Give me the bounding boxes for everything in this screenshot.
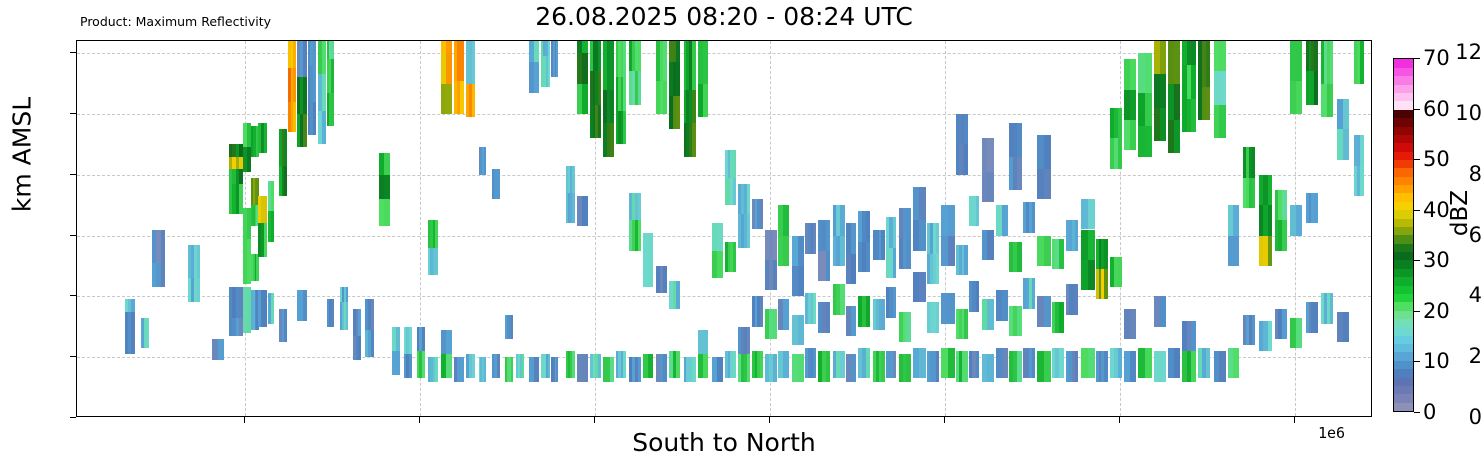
reflectivity-cell [826, 302, 830, 332]
reflectivity-cell [1059, 348, 1063, 378]
colorbar-segment [1394, 159, 1413, 168]
reflectivity-cell [1191, 99, 1196, 132]
reflectivity-cell [1296, 318, 1302, 348]
reflectivity-cell [548, 354, 551, 378]
colorbar-segment [1394, 201, 1413, 210]
reflectivity-cell [1174, 348, 1180, 378]
colorbar-segment [1394, 352, 1413, 361]
colorbar-segment [1394, 293, 1413, 302]
reflectivity-cell [1118, 138, 1122, 168]
reflectivity-cell [1130, 59, 1136, 89]
reflectivity-cell [906, 239, 910, 269]
reflectivity-cell [1268, 321, 1273, 351]
reflectivity-cell [271, 211, 275, 241]
reflectivity-cell [1160, 351, 1166, 381]
reflectivity-cell [1206, 87, 1210, 120]
reflectivity-cell [663, 266, 667, 293]
reflectivity-cell [303, 77, 306, 113]
reflectivity-cell [703, 84, 709, 117]
reflectivity-cell [906, 354, 910, 381]
reflectivity-cell [813, 293, 816, 323]
reflectivity-cell [1130, 120, 1136, 150]
reflectivity-cell [1343, 99, 1349, 129]
reflectivity-cell [1017, 123, 1022, 156]
colorbar-segment [1394, 101, 1413, 110]
reflectivity-cell [197, 278, 200, 302]
colorbar-tick-label: 60 [1423, 97, 1450, 121]
reflectivity-cell [1075, 351, 1078, 381]
reflectivity-cell [556, 41, 558, 77]
reflectivity-cell [1233, 348, 1239, 378]
reflectivity-cell [919, 220, 926, 250]
reflectivity-cell [1017, 242, 1022, 272]
reflectivity-cell [919, 187, 926, 220]
reflectivity-cell [331, 59, 334, 92]
reflectivity-cell [1191, 321, 1196, 351]
reflectivity-cell [747, 184, 750, 214]
reflectivity-cell [717, 251, 723, 278]
colorbar-segment [1394, 168, 1413, 177]
reflectivity-cell [197, 245, 200, 278]
colorbar-segment [1394, 84, 1413, 93]
reflectivity-cell [534, 62, 539, 92]
reflectivity-cell [676, 281, 680, 308]
reflectivity-cell [676, 62, 680, 95]
reflectivity-cell [906, 312, 910, 342]
reflectivity-cell [1145, 348, 1152, 378]
reflectivity-cell [733, 242, 736, 272]
reflectivity-cell [472, 84, 475, 117]
colorbar-tick [1414, 210, 1420, 211]
reflectivity-cell [1296, 41, 1302, 81]
reflectivity-cell [1252, 315, 1255, 345]
reflectivity-cell [798, 236, 804, 266]
plot-area [76, 40, 1372, 417]
x-axis-label: South to North [76, 428, 1372, 457]
reflectivity-cell [435, 220, 438, 247]
colorbar-tick-label: 70 [1423, 46, 1450, 70]
reflectivity-cell [548, 41, 551, 56]
colorbar-tick [1414, 58, 1420, 59]
colorbar-segment [1394, 235, 1413, 244]
reflectivity-cell [648, 260, 653, 287]
reflectivity-cell [1044, 296, 1051, 326]
y-axis-tick [70, 235, 76, 236]
reflectivity-cell [1191, 351, 1196, 381]
colorbar-segment [1394, 285, 1413, 294]
colorbar-segment [1394, 343, 1413, 352]
colorbar-segment [1394, 369, 1413, 378]
reflectivity-cell [610, 123, 614, 156]
colorbar-segment [1394, 327, 1413, 336]
reflectivity-cell [384, 153, 390, 174]
reflectivity-cell [813, 348, 816, 378]
reflectivity-cell [582, 53, 588, 83]
reflectivity-cell [1343, 129, 1349, 159]
reflectivity-cell [1044, 236, 1051, 266]
reflectivity-cell [1219, 105, 1225, 138]
reflectivity-cell [1044, 169, 1051, 199]
reflectivity-cell [313, 65, 316, 101]
reflectivity-cell [1032, 202, 1035, 232]
reflectivity-cell [783, 236, 789, 266]
x-axis-tick [1294, 417, 1295, 423]
reflectivity-cell [1268, 205, 1273, 235]
reflectivity-cell [623, 111, 626, 144]
reflectivity-cell [840, 284, 844, 314]
colorbar-segment [1394, 268, 1413, 277]
reflectivity-cell [598, 354, 601, 378]
reflectivity-cell [866, 211, 870, 241]
reflectivity-cell [497, 354, 500, 378]
reflectivity-cell [1118, 348, 1122, 378]
reflectivity-cell [717, 223, 723, 250]
reflectivity-cell [572, 166, 575, 193]
reflectivity-cell [760, 199, 763, 229]
reflectivity-cell [484, 357, 486, 381]
reflectivity-cell [893, 248, 897, 278]
colorbar-segment [1394, 134, 1413, 143]
reflectivity-cell [435, 248, 438, 275]
reflectivity-cell [893, 287, 897, 317]
reflectivity-cell [826, 251, 830, 281]
reflectivity-cell [676, 351, 680, 378]
reflectivity-cell [313, 102, 316, 135]
reflectivity-cell [271, 293, 275, 323]
colorbar-segment [1394, 92, 1413, 101]
reflectivity-cell [1017, 351, 1022, 381]
reflectivity-cell [511, 315, 513, 339]
reflectivity-cell [987, 230, 993, 260]
colorbar-tick-label: 10 [1423, 349, 1450, 373]
x-axis-tick [594, 417, 595, 423]
reflectivity-cell [1118, 257, 1122, 287]
colorbar-tick [1414, 260, 1420, 261]
reflectivity-cell [866, 242, 870, 272]
colorbar-segment [1394, 385, 1413, 394]
reflectivity-cell [936, 254, 939, 284]
reflectivity-cell [733, 178, 736, 205]
reflectivity-cell [371, 330, 374, 357]
reflectivity-cell [1282, 220, 1286, 250]
colorbar-segment [1394, 218, 1413, 227]
reflectivity-cell [623, 41, 626, 77]
reflectivity-cell [1017, 306, 1022, 336]
colorbar-tick [1414, 361, 1420, 362]
colorbar-segment [1394, 185, 1413, 194]
reflectivity-cell [936, 223, 939, 253]
reflectivity-cell [293, 102, 296, 132]
reflectivity-cell [663, 81, 667, 114]
x-axis-tick [944, 417, 945, 423]
reflectivity-cell [747, 354, 750, 381]
colorbar [1393, 58, 1414, 412]
reflectivity-cell [358, 336, 361, 360]
y-axis-tick [70, 356, 76, 357]
colorbar-segment [1394, 335, 1413, 344]
reflectivity-cell [676, 96, 680, 129]
reflectivity-cell [964, 309, 967, 339]
colorbar-segment [1394, 377, 1413, 386]
reflectivity-cell [1174, 84, 1180, 120]
reflectivity-cell [396, 327, 400, 351]
reflectivity-cell [264, 290, 267, 326]
product-label: Product: Maximum Reflectivity [80, 14, 271, 29]
reflectivity-cell [773, 260, 777, 290]
reflectivity-cell [1088, 348, 1095, 378]
colorbar-label: dBZ [1447, 133, 1473, 293]
reflectivity-cell [936, 351, 939, 381]
colorbar-segment [1394, 318, 1413, 327]
colorbar-segment [1394, 251, 1413, 260]
reflectivity-cell [293, 41, 296, 68]
reflectivity-cell [161, 263, 166, 287]
colorbar-segment [1394, 243, 1413, 252]
reflectivity-cell [293, 68, 296, 101]
reflectivity-cell [146, 318, 148, 348]
reflectivity-cell [1130, 309, 1136, 339]
reflectivity-cell [582, 354, 588, 381]
colorbar-segment [1394, 126, 1413, 135]
reflectivity-cell [460, 41, 463, 81]
reflectivity-cell [948, 205, 955, 235]
reflectivity-cell [1206, 41, 1210, 87]
reflectivity-cell [798, 354, 804, 381]
reflectivity-cell [1314, 41, 1317, 71]
reflectivity-cell [472, 354, 475, 378]
reflectivity-cell [384, 199, 390, 226]
reflectivity-cell [396, 351, 400, 375]
colorbar-tick-label: 40 [1423, 198, 1450, 222]
reflectivity-cell [610, 41, 614, 90]
reflectivity-cell [692, 123, 695, 156]
reflectivity-cell [572, 351, 575, 378]
reflectivity-cell [783, 205, 789, 235]
reflectivity-cell [1219, 71, 1225, 104]
x-axis-tick [244, 417, 245, 423]
reflectivity-cell [1032, 348, 1035, 378]
colorbar-tick [1414, 159, 1420, 160]
reflectivity-cell [409, 354, 411, 378]
colorbar-segment [1394, 193, 1413, 202]
reflectivity-cell [1160, 296, 1166, 326]
reflectivity-cell [497, 169, 500, 199]
reflectivity-cell [1330, 293, 1333, 323]
reflectivity-cell [1252, 147, 1255, 177]
reflectivity-cell [1296, 81, 1302, 114]
colorbar-segment [1394, 118, 1413, 127]
colorbar-segment [1394, 260, 1413, 269]
reflectivity-cell [1002, 348, 1008, 378]
reflectivity-cell [446, 41, 452, 53]
reflectivity-cell [582, 196, 588, 226]
reflectivity-cell [1088, 230, 1095, 260]
reflectivity-cell [271, 181, 275, 211]
gridline-horizontal [77, 175, 1371, 176]
x-axis-offset-label: 1e6 [1318, 424, 1345, 442]
reflectivity-cell [881, 299, 884, 329]
reflectivity-cell [284, 166, 287, 196]
reflectivity-cell [446, 84, 452, 114]
reflectivity-cell [638, 71, 641, 104]
reflectivity-cell [1160, 41, 1166, 74]
reflectivity-cell [331, 41, 334, 59]
reflectivity-cell [556, 357, 558, 381]
colorbar-segment [1394, 310, 1413, 319]
colorbar-tick-label: 20 [1423, 299, 1450, 323]
colorbar-segment [1394, 277, 1413, 286]
reflectivity-cell [511, 357, 513, 381]
reflectivity-cell [851, 354, 857, 381]
reflectivity-cell [747, 214, 750, 247]
reflectivity-cell [1130, 90, 1136, 120]
reflectivity-cell [813, 223, 816, 253]
y-axis-tick [70, 417, 76, 418]
y-axis-tick [70, 174, 76, 175]
reflectivity-cell [906, 208, 910, 238]
reflectivity-cell [472, 41, 475, 84]
reflectivity-cell [1343, 312, 1349, 342]
reflectivity-cell [638, 41, 641, 71]
reflectivity-cell [256, 254, 258, 281]
reflectivity-cell [964, 351, 967, 381]
reflectivity-cell [773, 354, 777, 381]
reflectivity-cell [264, 223, 267, 256]
reflectivity-cell [866, 296, 870, 326]
reflectivity-cell [851, 223, 857, 253]
reflectivity-cell [446, 330, 452, 354]
reflectivity-cell [460, 81, 463, 114]
colorbar-segment [1394, 302, 1413, 311]
reflectivity-cell [358, 309, 361, 336]
reflectivity-cell [346, 287, 348, 302]
reflectivity-cell [692, 90, 695, 123]
reflectivity-cell [851, 254, 857, 284]
reflectivity-cell [346, 302, 348, 329]
reflectivity-cell [1314, 302, 1317, 332]
reflectivity-cell [623, 351, 626, 378]
colorbar-tick-label: 0 [1423, 400, 1436, 424]
reflectivity-cell [1017, 157, 1022, 190]
reflectivity-cell [1206, 348, 1210, 378]
reflectivity-cell [331, 93, 334, 126]
reflectivity-cell [692, 41, 695, 90]
reflectivity-cell [322, 41, 326, 74]
reflectivity-cell [1059, 239, 1063, 269]
colorbar-tick-label: 30 [1423, 248, 1450, 272]
reflectivity-cell [1268, 236, 1273, 266]
colorbar-segment [1394, 402, 1413, 411]
reflectivity-cell [1252, 178, 1255, 208]
reflectivity-cell [303, 114, 306, 147]
reflectivity-cell [384, 175, 390, 199]
reflectivity-cell [1130, 351, 1136, 381]
colorbar-segment [1394, 67, 1413, 76]
reflectivity-cell [638, 357, 641, 381]
reflectivity-cell [663, 354, 667, 381]
reflectivity-cell [534, 357, 539, 381]
reflectivity-cell [976, 196, 980, 226]
reflectivity-cell [1075, 220, 1078, 250]
reflectivity-cell [1268, 175, 1273, 205]
reflectivity-cell [598, 71, 601, 104]
reflectivity-cell [1088, 199, 1095, 229]
reflectivity-cell [582, 84, 588, 114]
colorbar-tick [1414, 109, 1420, 110]
reflectivity-cell [760, 296, 763, 326]
reflectivity-cell [1002, 205, 1008, 235]
reflectivity-cell [522, 354, 524, 378]
reflectivity-cell [948, 348, 955, 378]
reflectivity-cell [598, 41, 601, 71]
reflectivity-cell [919, 348, 926, 378]
reflectivity-cell [1219, 41, 1225, 71]
colorbar-segment [1394, 76, 1413, 85]
reflectivity-cell [648, 354, 653, 378]
reflectivity-cell [1314, 193, 1317, 223]
reflectivity-cell [948, 236, 955, 266]
radar-cross-section-figure: 26.08.2025 08:20 - 08:24 UTC Product: Ma… [0, 0, 1482, 470]
colorbar-segment [1394, 394, 1413, 403]
y-axis-label: km AMSL [8, 25, 37, 285]
reflectivity-cell [218, 339, 224, 360]
colorbar-segment [1394, 109, 1413, 118]
reflectivity-cell [976, 281, 980, 311]
reflectivity-cell [284, 309, 287, 342]
x-axis-tick [419, 417, 420, 423]
reflectivity-cell [881, 230, 884, 260]
reflectivity-cell [893, 217, 897, 247]
reflectivity-cell [987, 299, 993, 329]
reflectivity-cell [733, 351, 736, 378]
reflectivity-cell [610, 90, 614, 123]
reflectivity-cell [1233, 236, 1239, 266]
reflectivity-cell [322, 74, 326, 110]
reflectivity-cell [1032, 278, 1035, 308]
reflectivity-cell [598, 105, 601, 138]
x-axis-tick [769, 417, 770, 423]
reflectivity-cell [703, 354, 709, 378]
reflectivity-cell [783, 351, 789, 378]
reflectivity-cell [1330, 41, 1333, 84]
reflectivity-cell [484, 147, 486, 174]
reflectivity-cell [161, 230, 166, 263]
reflectivity-cell [798, 315, 804, 345]
reflectivity-cell [964, 114, 967, 144]
reflectivity-cell [964, 245, 967, 275]
reflectivity-cell [1282, 190, 1286, 220]
reflectivity-cell [638, 193, 641, 220]
reflectivity-cell [1191, 65, 1196, 98]
colorbar-tick [1414, 412, 1420, 413]
reflectivity-cell [1104, 351, 1107, 381]
colorbar-segment [1394, 143, 1413, 152]
reflectivity-cell [638, 220, 641, 250]
colorbar-segment [1394, 151, 1413, 160]
reflectivity-cell [1296, 205, 1302, 235]
reflectivity-cell [826, 220, 830, 250]
reflectivity-cell [948, 293, 955, 323]
reflectivity-cell [446, 53, 452, 83]
reflectivity-cell [840, 205, 844, 235]
reflectivity-cell [371, 299, 374, 329]
reflectivity-cell [893, 351, 897, 378]
reflectivity-cell [783, 299, 789, 329]
colorbar-segment [1394, 226, 1413, 235]
reflectivity-cell [572, 193, 575, 223]
reflectivity-cell [1174, 120, 1180, 153]
y-axis-tick [70, 52, 76, 53]
